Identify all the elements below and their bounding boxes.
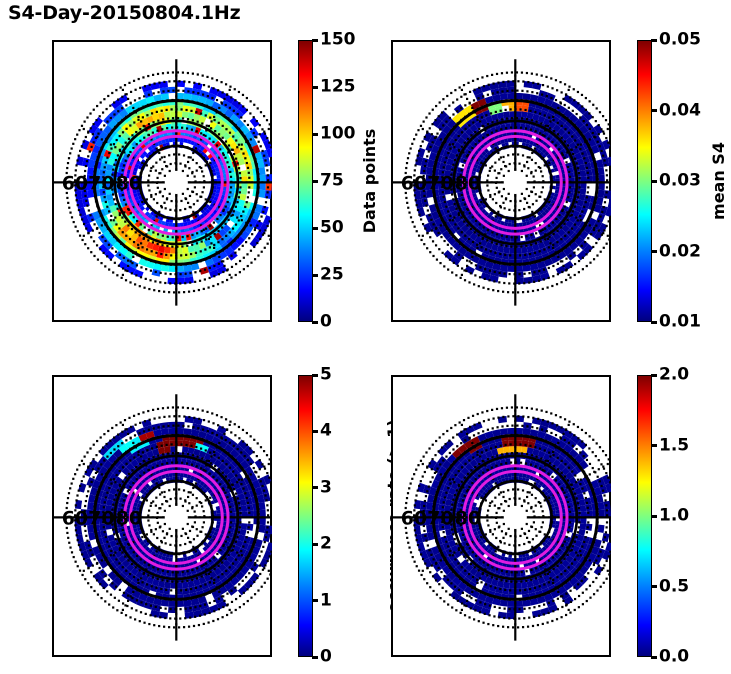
colorbar-tick-mark <box>312 543 318 546</box>
colorbar-tick-label: 0.04 <box>652 102 701 119</box>
colorbar-tick-label: 0.03 <box>652 173 701 190</box>
colorbar-tick-mark <box>312 180 318 183</box>
colorbar-tick-mark <box>651 250 657 253</box>
colorbar-tick-mark <box>651 180 657 183</box>
colorbar-tick-mark <box>651 444 657 447</box>
colorbar-tick-label: 2 <box>313 536 332 553</box>
colorbar-tick-label: 0 <box>313 314 332 331</box>
colorbar-tick-label: 4 <box>313 423 332 440</box>
colorbar-label: Data points <box>360 40 379 322</box>
colorbar-tick-label: 1 <box>313 592 332 609</box>
colorbar-tick-mark <box>651 515 657 518</box>
colorbar-tick-label: 0.5 <box>652 578 689 595</box>
colorbar-tick-label: 75 <box>313 173 344 190</box>
colorbar-gradient <box>637 40 652 322</box>
colorbar-mean-s4: 0.010.020.030.040.05 mean S4 <box>637 40 652 322</box>
panel-occurrence-rate-gt-point1 <box>52 375 272 657</box>
colorbar-data-points: 0255075100125150 Data points <box>298 40 313 322</box>
colorbar-tick-mark <box>312 133 318 136</box>
colorbar-tick-mark <box>312 599 318 602</box>
colorbar-tick-mark <box>312 430 318 433</box>
colorbar-tick-mark <box>651 109 657 112</box>
colorbar-tick-mark <box>312 39 318 42</box>
figure-canvas: S4-Day-20150804.1Hz 0255075100125150 Dat… <box>0 0 731 674</box>
polar-skyplot-canvas <box>391 40 611 322</box>
colorbar-tick-mark <box>651 585 657 588</box>
colorbar-tick-label: 150 <box>313 32 356 49</box>
colorbar-tick-mark <box>312 486 318 489</box>
colorbar-tick-mark <box>651 321 657 324</box>
colorbar-tick-label: 100 <box>313 126 356 143</box>
panel-data-points <box>52 40 272 322</box>
colorbar-ticks: 0.00.51.01.52.0 <box>652 375 731 657</box>
polar-skyplot-canvas <box>52 375 272 657</box>
figure-title: S4-Day-20150804.1Hz <box>8 2 240 24</box>
polar-skyplot-canvas <box>52 40 272 322</box>
colorbar-tick-label: 0.0 <box>652 649 689 666</box>
colorbar-gradient <box>298 375 313 657</box>
colorbar-tick-label: 0 <box>313 649 332 666</box>
colorbar-tick-mark <box>312 656 318 659</box>
colorbar-tick-label: 125 <box>313 79 356 96</box>
panel-occurrence-rate-gt-point15 <box>391 375 611 657</box>
colorbar-tick-label: 2.0 <box>652 367 689 384</box>
colorbar-tick-mark <box>312 274 318 277</box>
colorbar-tick-label: 3 <box>313 479 332 496</box>
colorbar-label: mean S4 <box>709 40 728 322</box>
colorbar-occurrence-rate-gt-point15: 0.00.51.01.52.0 occurrence rate (>.15) <box>637 375 652 657</box>
polar-skyplot-canvas <box>391 375 611 657</box>
colorbar-tick-mark <box>651 656 657 659</box>
colorbar-tick-label: 0.05 <box>652 32 701 49</box>
colorbar-tick-mark <box>312 321 318 324</box>
colorbar-tick-label: 50 <box>313 220 344 237</box>
colorbar-tick-label: 0.02 <box>652 243 701 260</box>
colorbar-tick-mark <box>312 86 318 89</box>
colorbar-tick-label: 5 <box>313 367 332 384</box>
colorbar-gradient <box>298 40 313 322</box>
colorbar-tick-label: 0.01 <box>652 314 701 331</box>
colorbar-tick-label: 25 <box>313 267 344 284</box>
colorbar-tick-mark <box>312 227 318 230</box>
colorbar-gradient <box>637 375 652 657</box>
colorbar-tick-mark <box>651 39 657 42</box>
panel-mean-s4 <box>391 40 611 322</box>
colorbar-tick-label: 1.5 <box>652 437 689 454</box>
colorbar-occurrence-rate-gt-point1: 012345 occurrence rate (>.1) <box>298 375 313 657</box>
colorbar-tick-mark <box>651 374 657 377</box>
colorbar-tick-mark <box>312 374 318 377</box>
colorbar-tick-label: 1.0 <box>652 508 689 525</box>
